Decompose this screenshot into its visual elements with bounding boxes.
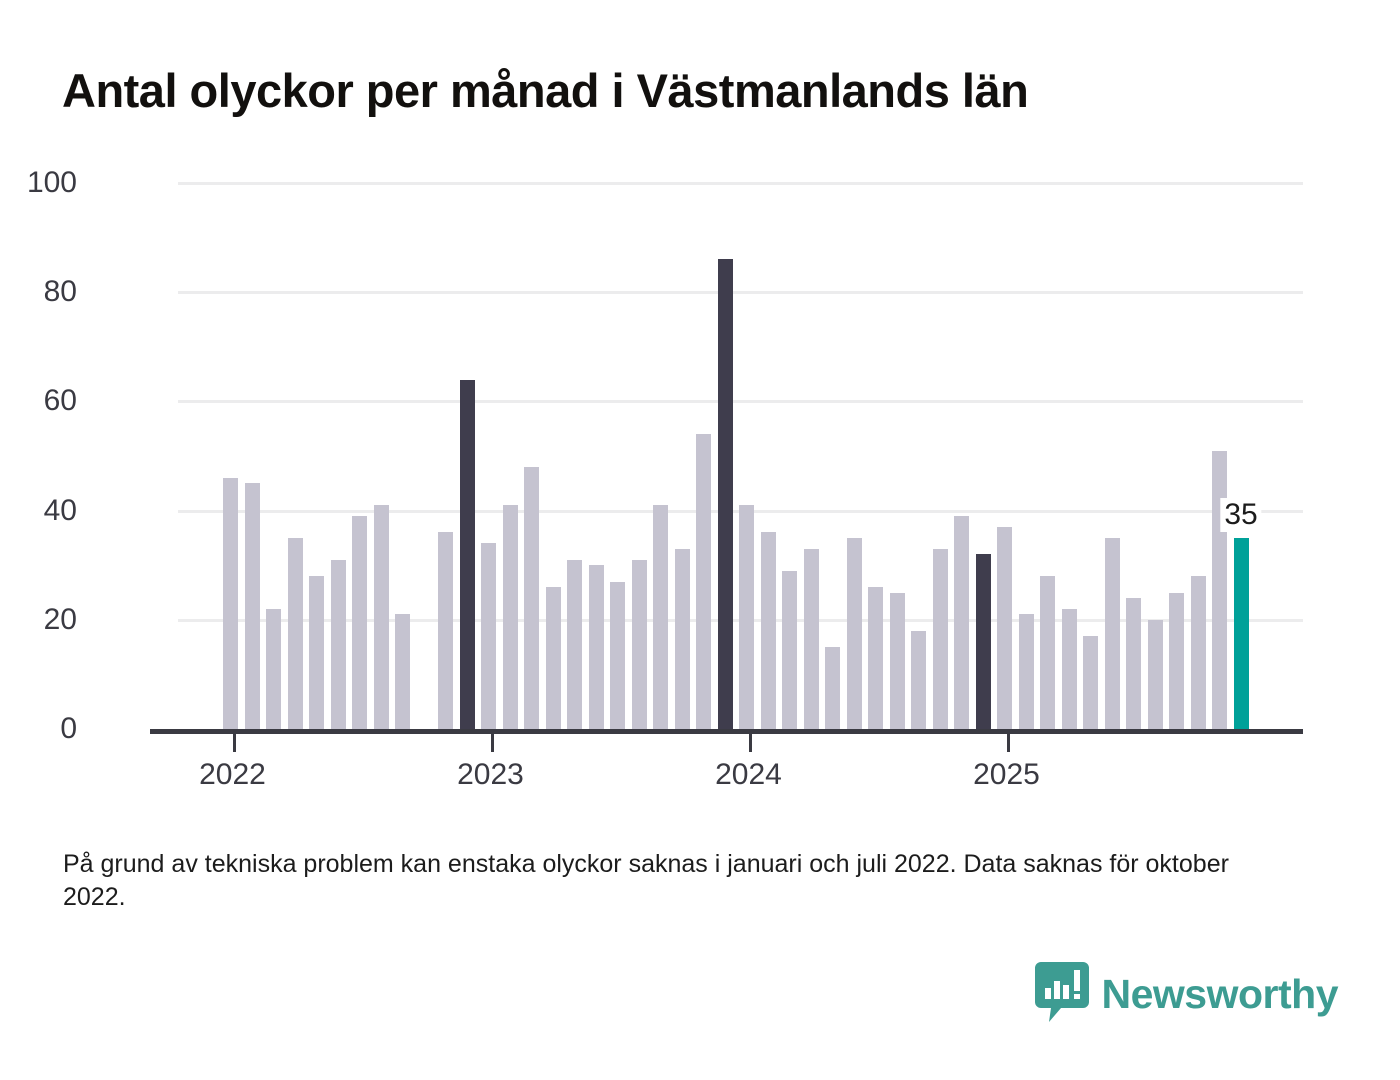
bar[interactable] xyxy=(288,538,303,729)
bar[interactable] xyxy=(976,554,991,729)
bar[interactable] xyxy=(804,549,819,729)
bar[interactable] xyxy=(481,543,496,729)
bar[interactable] xyxy=(546,587,561,729)
bar[interactable] xyxy=(309,576,324,729)
bar[interactable] xyxy=(1212,451,1227,729)
bar[interactable] xyxy=(395,614,410,729)
chart-footnote: På grund av tekniska problem kan enstaka… xyxy=(63,848,1288,914)
bar[interactable] xyxy=(524,467,539,729)
bar-value-label: 35 xyxy=(1220,498,1261,532)
bar[interactable] xyxy=(1105,538,1120,729)
y-axis-tick-label: 60 xyxy=(0,384,77,418)
bar[interactable] xyxy=(911,631,926,729)
bar[interactable]: 35 xyxy=(1234,538,1249,729)
bar[interactable] xyxy=(1191,576,1206,729)
y-axis-tick-label: 100 xyxy=(0,166,77,200)
y-axis-tick-label: 20 xyxy=(0,603,77,637)
bar[interactable] xyxy=(589,565,604,729)
bar[interactable] xyxy=(1083,636,1098,729)
x-axis-tick-label: 2025 xyxy=(927,758,1087,792)
x-axis-tick-label: 2024 xyxy=(669,758,829,792)
y-axis-tick-label: 40 xyxy=(0,494,77,528)
y-axis-tick-label: 80 xyxy=(0,275,77,309)
bar[interactable] xyxy=(331,560,346,729)
bar[interactable] xyxy=(761,532,776,729)
logo-text: Newsworthy xyxy=(1102,971,1339,1018)
bar[interactable] xyxy=(847,538,862,729)
bar[interactable] xyxy=(438,532,453,729)
bar[interactable] xyxy=(890,593,905,730)
x-axis-line xyxy=(150,729,1303,734)
bar-chart-speech-bubble-icon xyxy=(1035,962,1089,1027)
bar[interactable] xyxy=(374,505,389,729)
bar[interactable] xyxy=(245,483,260,729)
bar[interactable] xyxy=(610,582,625,729)
x-axis-tick-mark xyxy=(491,734,494,752)
x-axis-tick-mark xyxy=(233,734,236,752)
bar[interactable] xyxy=(503,505,518,729)
chart-area: 020406080100 35 2022202320242025 xyxy=(0,0,1400,800)
bar[interactable] xyxy=(1126,598,1141,729)
x-axis-tick-mark xyxy=(749,734,752,752)
bar[interactable] xyxy=(868,587,883,729)
bar[interactable] xyxy=(718,259,733,729)
x-axis-tick-label: 2022 xyxy=(153,758,313,792)
bar[interactable] xyxy=(675,549,690,729)
bar[interactable] xyxy=(223,478,238,729)
bar-series: 35 xyxy=(178,183,1303,729)
bar[interactable] xyxy=(653,505,668,729)
chart-page: Antal olyckor per månad i Västmanlands l… xyxy=(0,0,1400,1080)
bar[interactable] xyxy=(739,505,754,729)
bar[interactable] xyxy=(1169,593,1184,730)
bar[interactable] xyxy=(997,527,1012,729)
bar[interactable] xyxy=(1019,614,1034,729)
bar[interactable] xyxy=(1148,620,1163,729)
bar[interactable] xyxy=(782,571,797,729)
bar[interactable] xyxy=(352,516,367,729)
x-axis-tick-label: 2023 xyxy=(411,758,571,792)
bar[interactable] xyxy=(954,516,969,729)
bar[interactable] xyxy=(266,609,281,729)
newsworthy-logo[interactable]: Newsworthy xyxy=(1035,962,1339,1027)
bar[interactable] xyxy=(1040,576,1055,729)
bar[interactable] xyxy=(1062,609,1077,729)
plot-region: 020406080100 35 2022202320242025 xyxy=(178,183,1303,729)
bar[interactable] xyxy=(933,549,948,729)
bar[interactable] xyxy=(632,560,647,729)
bar[interactable] xyxy=(825,647,840,729)
y-axis-tick-label: 0 xyxy=(0,712,77,746)
bar[interactable] xyxy=(567,560,582,729)
bar[interactable] xyxy=(460,380,475,729)
x-axis-tick-mark xyxy=(1007,734,1010,752)
bar[interactable] xyxy=(696,434,711,729)
